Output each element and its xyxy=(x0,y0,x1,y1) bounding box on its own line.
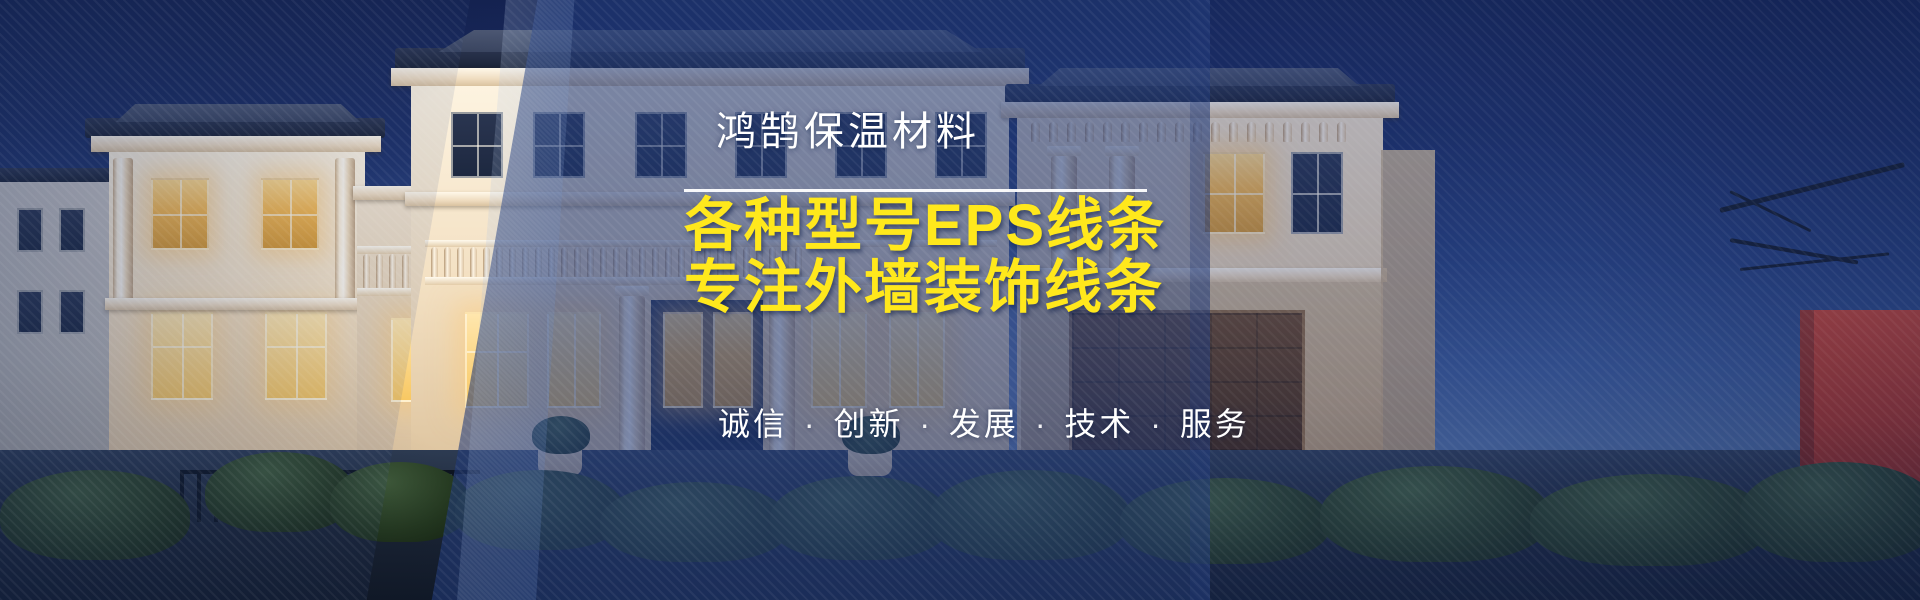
tagline-item: 创新 xyxy=(833,406,903,442)
title-divider xyxy=(684,189,1147,192)
tagline-separator-icon: · xyxy=(1031,406,1053,442)
tagline-item: 诚信 xyxy=(718,406,788,442)
tagline-separator-icon: · xyxy=(1146,406,1168,442)
tagline-item: 服务 xyxy=(1180,406,1250,442)
tagline-separator-icon: · xyxy=(800,406,822,442)
tagline: 诚信 · 创新 · 发展 · 技术 · 服务 xyxy=(718,404,1250,444)
headline-line-1: 各种型号EPS线条 xyxy=(684,196,1384,256)
banner-text-content: 鸿鹄保温材料 各种型号EPS线条 专注外墙装饰线条 诚信 · 创新 · 发展 ·… xyxy=(0,0,1920,600)
company-name: 鸿鹄保温材料 xyxy=(716,110,980,154)
headline-group: 各种型号EPS线条 专注外墙装饰线条 xyxy=(684,196,1384,318)
hero-banner: 鸿鹄保温材料 各种型号EPS线条 专注外墙装饰线条 诚信 · 创新 · 发展 ·… xyxy=(0,0,1920,600)
tagline-separator-icon: · xyxy=(915,406,937,442)
tagline-item: 技术 xyxy=(1064,406,1134,442)
headline-line-2: 专注外墙装饰线条 xyxy=(684,258,1384,318)
tagline-item: 发展 xyxy=(949,406,1019,442)
